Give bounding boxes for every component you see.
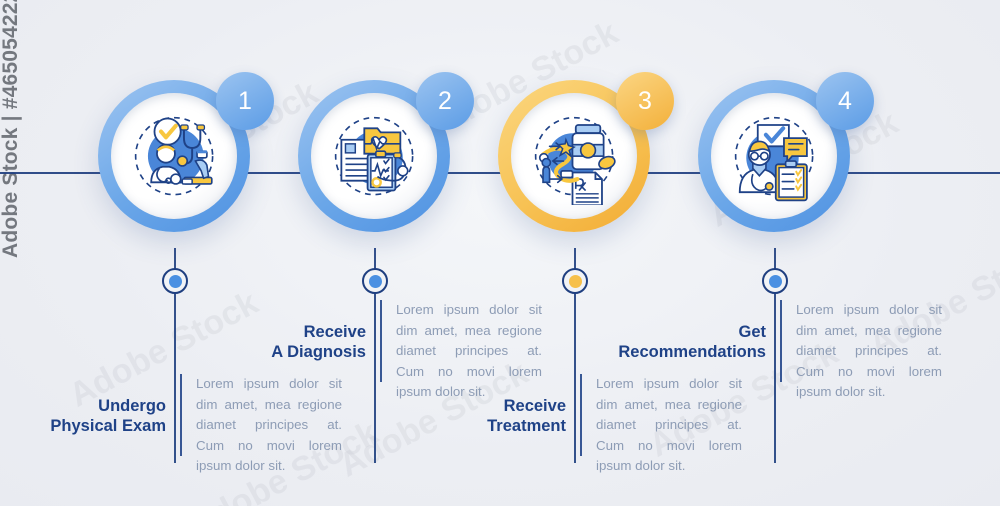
step-node-3[interactable]: 3 — [498, 80, 650, 232]
step-node-2[interactable]: 2 — [298, 80, 450, 232]
connector-dot-4 — [762, 268, 788, 294]
step-title-4: Get Recommendations — [618, 322, 780, 362]
watermark-credit: Adobe Stock | #465054222 — [0, 0, 23, 258]
step-title-1: Undergo Physical Exam — [50, 396, 180, 436]
step-number: 1 — [238, 87, 252, 116]
connector-dot-2 — [362, 268, 388, 294]
infographic-canvas: Adobe Stock Adobe Stock Adobe Stock Adob… — [0, 0, 1000, 506]
connector-dot-1 — [162, 268, 188, 294]
step-body-4: Lorem ipsum dolor sit dim amet, mea regi… — [782, 300, 942, 403]
step-text-4: Get Recommendations Lorem ipsum dolor si… — [612, 300, 942, 403]
step-badge-2: 2 — [416, 72, 474, 130]
step-badge-3: 3 — [616, 72, 674, 130]
connector-dot-3 — [562, 268, 588, 294]
text-divider — [380, 300, 382, 382]
text-divider — [580, 374, 582, 456]
step-number: 3 — [638, 87, 652, 116]
step-badge-4: 4 — [816, 72, 874, 130]
text-divider — [180, 374, 182, 456]
step-number: 2 — [438, 87, 452, 116]
step-node-4[interactable]: 4 — [698, 80, 850, 232]
step-title-2: Receive A Diagnosis — [271, 322, 380, 362]
step-node-1[interactable]: 1 — [98, 80, 250, 232]
text-divider — [780, 300, 782, 382]
step-title-3: Receive Treatment — [487, 396, 580, 436]
step-number: 4 — [838, 87, 852, 116]
step-badge-1: 1 — [216, 72, 274, 130]
